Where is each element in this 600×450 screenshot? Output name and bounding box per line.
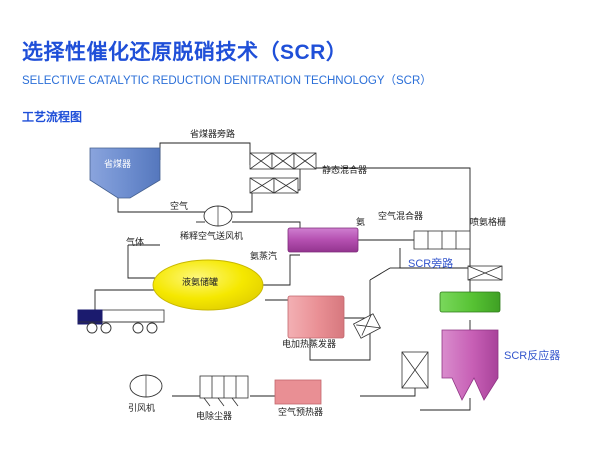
slide-root: 选择性催化还原脱硝技术（SCR） SELECTIVE CATALYTIC RED… [0, 0, 600, 450]
label-dilution-air-fan: 稀释空气送风机 [180, 232, 243, 242]
electric-heating-evaporator-shape [288, 296, 344, 338]
label-liquid-ammonia-tank: 液氨储罐 [182, 278, 218, 288]
label-economizer-bypass: 省煤器旁路 [190, 130, 235, 140]
catalyst-layer-shape [440, 292, 500, 312]
air-preheater-shape [402, 352, 428, 388]
label-air-preheater: 空气预热器 [278, 408, 323, 418]
air-ammonia-mixer-shape [288, 228, 358, 252]
ammonia-injection-grid-shape [414, 231, 470, 249]
dilution-air-fan-shape [204, 206, 232, 226]
label-ammonia-vapor: 氨蒸汽 [250, 252, 277, 262]
label-ammonia-injection-grid: 喷氨格栅 [470, 218, 506, 228]
process-flow-diagram: 省煤器 省煤器旁路 静态混合器 空气 稀释空气送风机 气体 氨 空气混合器 喷氨… [0, 0, 600, 450]
electrostatic-precipitator-shape [200, 376, 248, 406]
induced-draft-fan-shape [130, 375, 162, 397]
label-air-ammonia-mixer: 空气混合器 [378, 212, 423, 222]
diagram-graphics [0, 0, 600, 450]
label-gas: 气体 [126, 238, 144, 248]
label-scr-bypass: SCR旁路 [408, 258, 453, 270]
label-ammonia: 氨 [356, 218, 365, 228]
label-induced-draft-fan: 引风机 [128, 404, 155, 414]
scr-reactor-shape [442, 330, 498, 400]
label-air: 空气 [170, 202, 188, 212]
label-static-mixer: 静态混合器 [322, 166, 367, 176]
label-scr-reactor: SCR反应器 [504, 350, 560, 362]
ammonia-truck-shape [78, 310, 164, 333]
label-economizer: 省煤器 [104, 160, 131, 170]
label-electric-heating-evaporator: 电加热蒸发器 [282, 340, 336, 350]
label-electrostatic-precipitator: 电除尘器 [196, 412, 232, 422]
economizer-shape [90, 148, 160, 198]
